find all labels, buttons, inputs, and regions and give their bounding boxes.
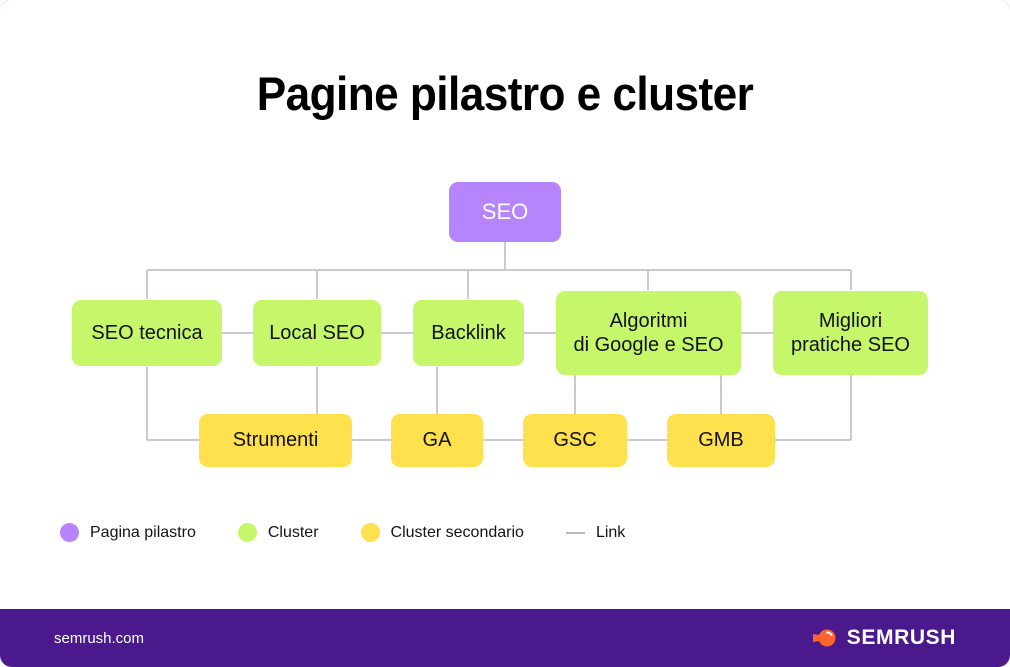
node-label: Local SEO bbox=[269, 321, 365, 345]
node-label-line1: Algoritmi bbox=[610, 309, 688, 333]
node-subcluster-gsc[interactable]: GSC bbox=[523, 414, 627, 467]
legend-item-link: Link bbox=[566, 524, 667, 542]
legend: Pagina pilastro Cluster Cluster secondar… bbox=[60, 523, 667, 542]
semrush-logo: SEMRUSH bbox=[811, 626, 956, 650]
node-label: SEO bbox=[482, 199, 528, 226]
node-cluster-algoritmi-google-seo[interactable]: Algoritmi di Google e SEO bbox=[556, 291, 741, 375]
legend-item-pagina-pilastro: Pagina pilastro bbox=[60, 523, 238, 542]
legend-item-cluster: Cluster bbox=[238, 523, 361, 542]
legend-label: Pagina pilastro bbox=[90, 524, 196, 542]
footer-bar: semrush.com SEMRUSH bbox=[0, 609, 1010, 667]
node-label-line2: pratiche SEO bbox=[791, 333, 910, 357]
semrush-wordmark: SEMRUSH bbox=[847, 626, 956, 650]
node-cluster-migliori-pratiche-seo[interactable]: Migliori pratiche SEO bbox=[773, 291, 928, 375]
node-label: Strumenti bbox=[233, 428, 319, 452]
footer-url[interactable]: semrush.com bbox=[54, 630, 144, 647]
node-cluster-local-seo[interactable]: Local SEO bbox=[253, 300, 381, 366]
node-subcluster-ga[interactable]: GA bbox=[391, 414, 483, 467]
node-cluster-seo-tecnica[interactable]: SEO tecnica bbox=[72, 300, 222, 366]
node-subcluster-gmb[interactable]: GMB bbox=[667, 414, 775, 467]
green-dot-icon bbox=[238, 523, 257, 542]
node-label: GMB bbox=[698, 428, 744, 452]
node-label: Backlink bbox=[431, 321, 505, 345]
node-label-line1: Migliori bbox=[819, 309, 882, 333]
purple-dot-icon bbox=[60, 523, 79, 542]
legend-label: Cluster secondario bbox=[391, 524, 524, 542]
node-label-line2: di Google e SEO bbox=[573, 333, 723, 357]
legend-label: Link bbox=[596, 524, 625, 542]
gray-dash-icon bbox=[566, 532, 585, 534]
node-cluster-backlink[interactable]: Backlink bbox=[413, 300, 524, 366]
node-label: GA bbox=[423, 428, 452, 452]
infographic-card: Pagine pilastro e cluster SEO bbox=[0, 0, 1010, 667]
yellow-dot-icon bbox=[361, 523, 380, 542]
legend-item-cluster-secondario: Cluster secondario bbox=[361, 523, 566, 542]
semrush-comet-icon bbox=[811, 627, 838, 649]
legend-label: Cluster bbox=[268, 524, 319, 542]
node-subcluster-strumenti[interactable]: Strumenti bbox=[199, 414, 352, 467]
node-label: SEO tecnica bbox=[91, 321, 202, 345]
node-pillar-seo[interactable]: SEO bbox=[449, 182, 561, 242]
node-label: GSC bbox=[553, 428, 596, 452]
